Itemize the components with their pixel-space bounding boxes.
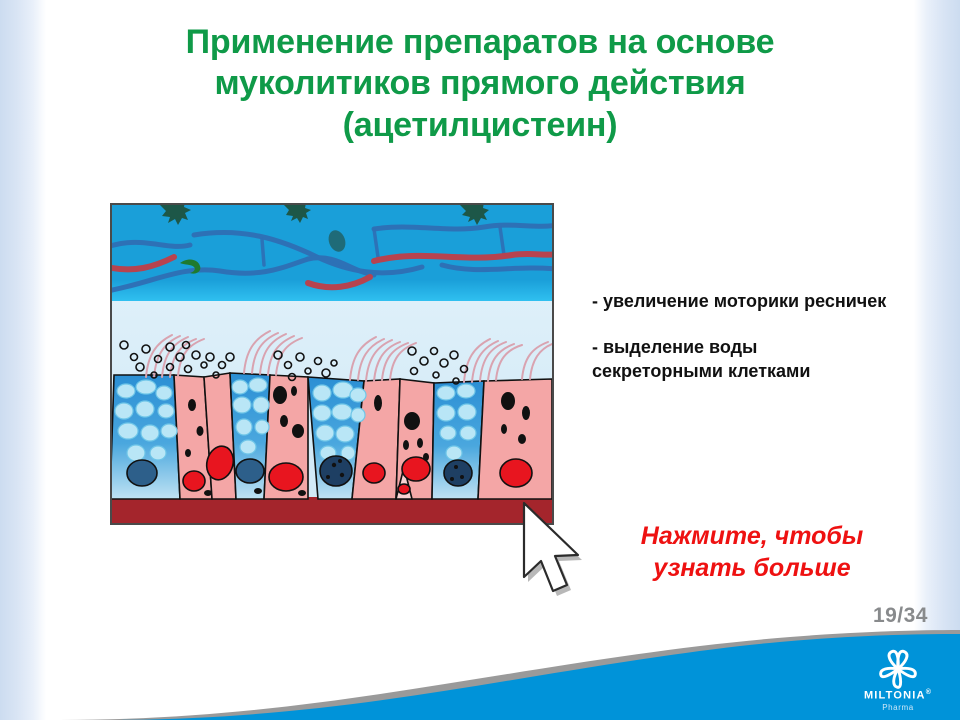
logo-wordmark: MILTONIA® — [864, 689, 932, 702]
title-line-2: муколитиков прямого действия — [70, 63, 890, 104]
blue-wave — [120, 634, 960, 720]
footer-waves — [0, 600, 960, 720]
title-line-1: Применение препаратов на основе — [70, 22, 890, 63]
title-line-3: (ацетилцистеин) — [70, 105, 890, 146]
slide: Применение препаратов на основе муколити… — [0, 0, 960, 720]
orchid-flower-icon — [875, 649, 921, 689]
logo-trademark: ® — [926, 689, 932, 696]
logo-subtitle: Pharma — [882, 702, 914, 714]
epithelium-illustration[interactable] — [110, 203, 554, 525]
call-to-action[interactable]: Нажмите, чтобы узнать больше — [592, 520, 912, 584]
mouse-cursor-icon — [518, 498, 588, 598]
benefit-item-1: - увеличение моторики ресничек — [592, 290, 892, 314]
epithelium-svg — [112, 205, 552, 523]
cta-line-2: узнать больше — [592, 552, 912, 584]
benefit-item-2: - выделение воды секреторными клетками — [592, 336, 892, 384]
slide-title: Применение препаратов на основе муколити… — [70, 22, 890, 146]
brand-logo: MILTONIA® Pharma — [858, 644, 938, 714]
cta-line-1: Нажмите, чтобы — [592, 520, 912, 552]
benefit-list: - увеличение моторики ресничек - выделен… — [592, 290, 892, 384]
logo-name-text: MILTONIA — [864, 690, 926, 702]
